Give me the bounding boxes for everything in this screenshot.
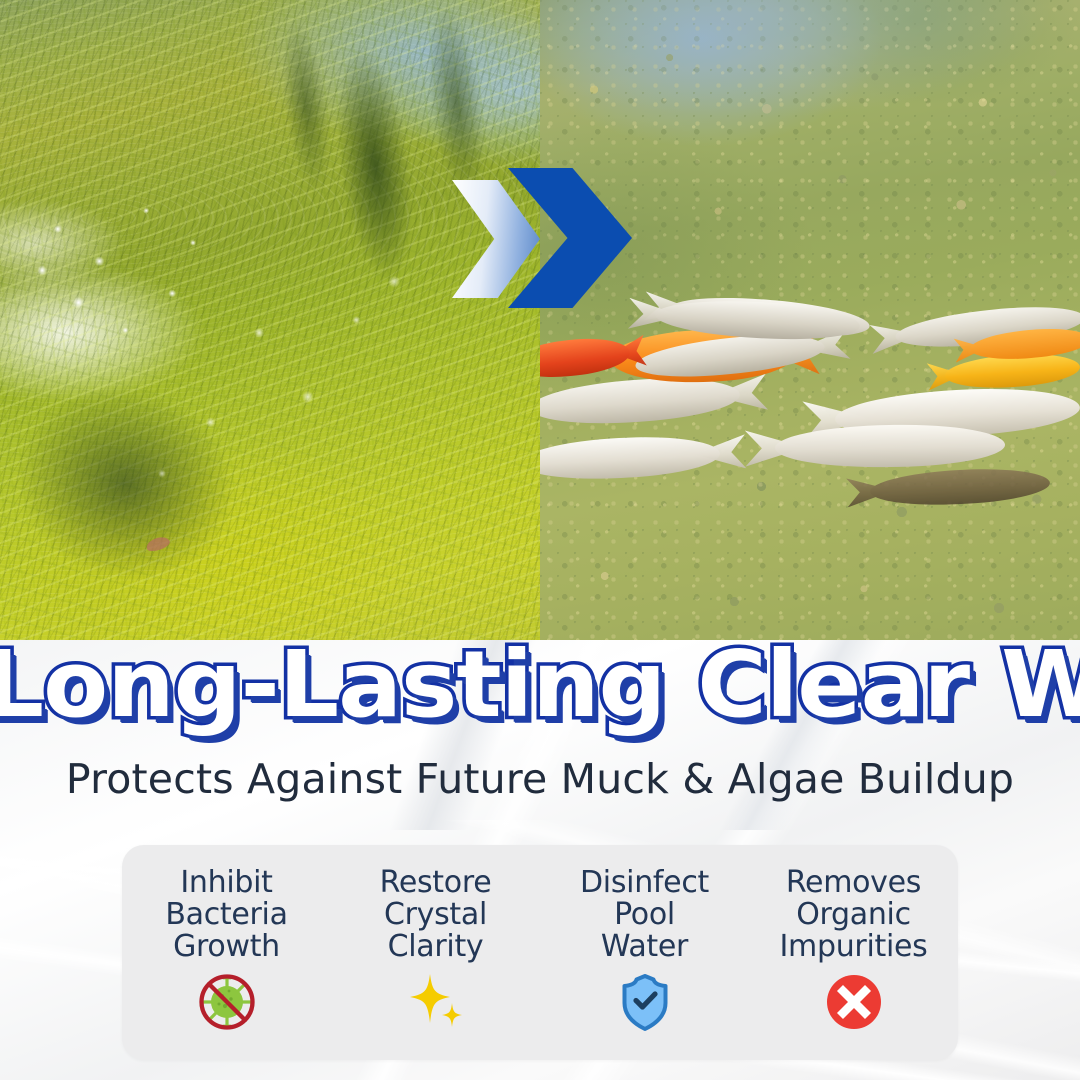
before-after-photo-band: [0, 0, 1080, 640]
shield-check-icon: [614, 971, 676, 1033]
sparkle-icon: [405, 971, 467, 1033]
chevron-gradient: [452, 180, 540, 298]
double-chevron-right-icon: [452, 168, 642, 308]
feature-label: Disinfect Pool Water: [580, 867, 709, 962]
feature-restore-crystal-clarity: Restore Crystal Clarity: [333, 867, 538, 1033]
feature-inhibit-bacteria-growth: Inhibit Bacteria Growth: [124, 867, 329, 1033]
page-title: Long-Lasting Clear Water: [0, 640, 1080, 734]
water-bubbles: [0, 0, 540, 640]
red-x-circle-icon: [823, 971, 885, 1033]
feature-label: Removes Organic Impurities: [780, 867, 928, 962]
feature-benefits-card: Inhibit Bacteria Growth: [122, 845, 958, 1060]
no-bacteria-icon: [196, 971, 258, 1033]
after-photo-clear-pond: [540, 0, 1080, 640]
feature-label: Inhibit Bacteria Growth: [165, 867, 287, 962]
content-panel: Long-Lasting Clear Water Protects Agains…: [0, 640, 1080, 1080]
feature-disinfect-pool-water: Disinfect Pool Water: [542, 867, 747, 1033]
feature-removes-organic-impurities: Removes Organic Impurities: [751, 867, 956, 1033]
before-photo-algae-pond: [0, 0, 540, 640]
feature-label: Restore Crystal Clarity: [380, 867, 492, 962]
page-subtitle: Protects Against Future Muck & Algae Bui…: [0, 755, 1080, 803]
